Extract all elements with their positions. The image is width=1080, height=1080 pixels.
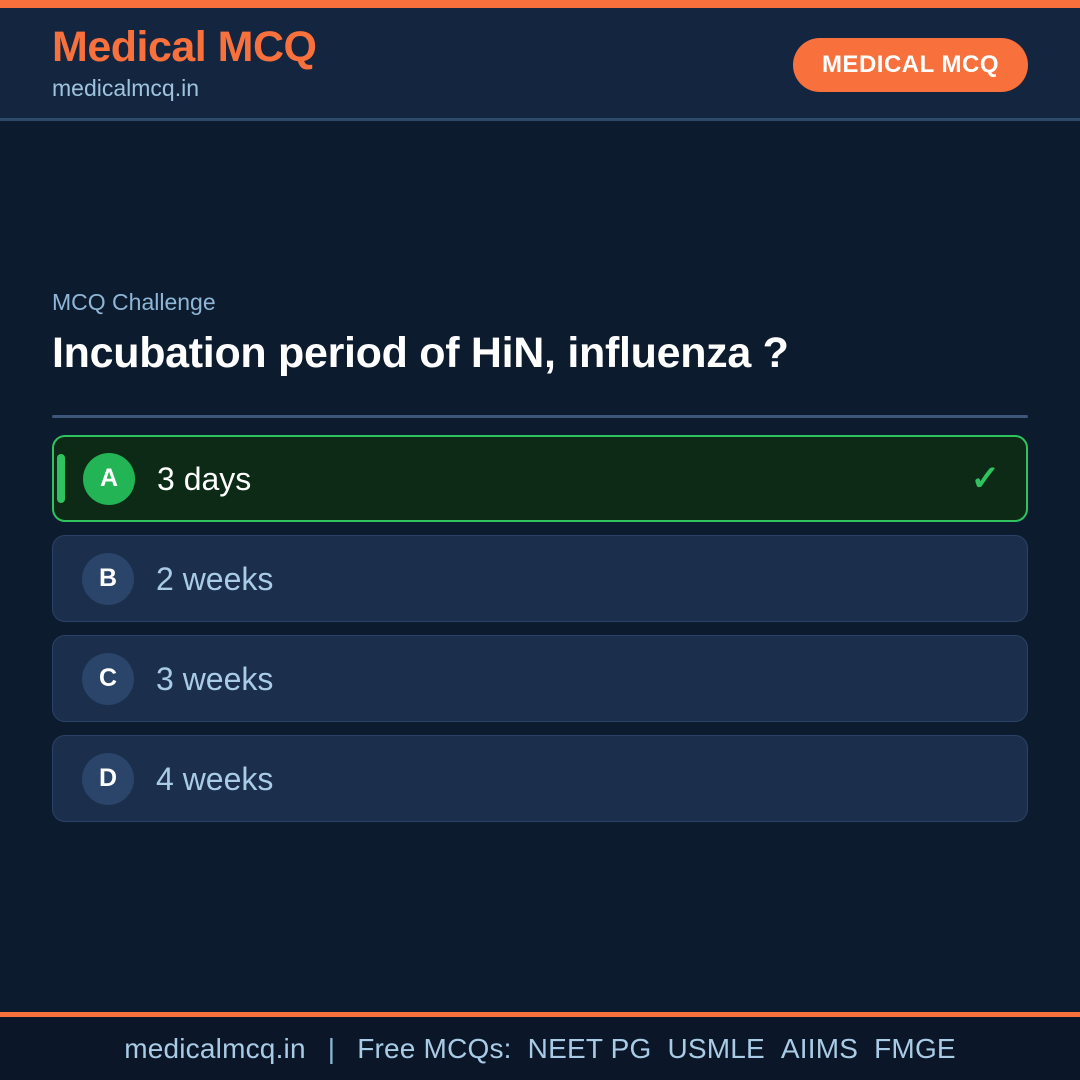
page-header: Medical MCQ medicalmcq.in MEDICAL MCQ [0, 8, 1080, 121]
check-icon: ✓ [971, 461, 1000, 496]
option-c-letter: C [82, 653, 134, 705]
correct-accent-bar [57, 454, 65, 503]
option-b-letter: B [82, 553, 134, 605]
option-d-text: 4 weeks [156, 763, 273, 795]
option-c-text: 3 weeks [156, 663, 273, 695]
question-eyebrow: MCQ Challenge [52, 289, 1028, 317]
question-block: MCQ Challenge Incubation period of HiN, … [52, 289, 1028, 379]
footer-exam-usmle: USMLE [659, 1033, 764, 1064]
option-b[interactable]: B 2 weeks [52, 535, 1028, 622]
footer-site: medicalmcq.in [124, 1033, 306, 1064]
brand-subtitle: medicalmcq.in [52, 73, 317, 104]
question-divider [52, 415, 1028, 418]
footer-exams-label: Free MCQs: [357, 1033, 511, 1064]
footer-separator: | [314, 1033, 349, 1064]
option-c[interactable]: C 3 weeks [52, 635, 1028, 722]
option-d-letter: D [82, 753, 134, 805]
question-area: MCQ Challenge Incubation period of HiN, … [0, 121, 1080, 1012]
option-a[interactable]: A 3 days ✓ [52, 435, 1028, 522]
option-a-letter: A [83, 453, 135, 505]
footer-exam-aiims: AIIMS [773, 1033, 858, 1064]
brand: Medical MCQ medicalmcq.in [52, 25, 317, 103]
options-list: A 3 days ✓ B 2 weeks C 3 weeks D 4 weeks [52, 435, 1028, 822]
option-d[interactable]: D 4 weeks [52, 735, 1028, 822]
brand-title: Medical MCQ [52, 25, 317, 70]
footer-exams: NEET PG USMLE AIIMS FMGE [520, 1033, 956, 1064]
top-accent-bar [0, 0, 1080, 8]
page-footer: medicalmcq.in | Free MCQs: NEET PG USMLE… [0, 1012, 1080, 1080]
mcq-card: Medical MCQ medicalmcq.in MEDICAL MCQ MC… [0, 0, 1080, 1080]
option-b-text: 2 weeks [156, 563, 273, 595]
footer-exam-fmge: FMGE [866, 1033, 956, 1064]
option-a-text: 3 days [157, 463, 251, 495]
footer-exam-neet-pg: NEET PG [520, 1033, 652, 1064]
footer-text: medicalmcq.in | Free MCQs: NEET PG USMLE… [124, 1033, 956, 1065]
brand-badge: MEDICAL MCQ [793, 38, 1028, 92]
question-title: Incubation period of HiN, influenza ? [52, 327, 812, 379]
